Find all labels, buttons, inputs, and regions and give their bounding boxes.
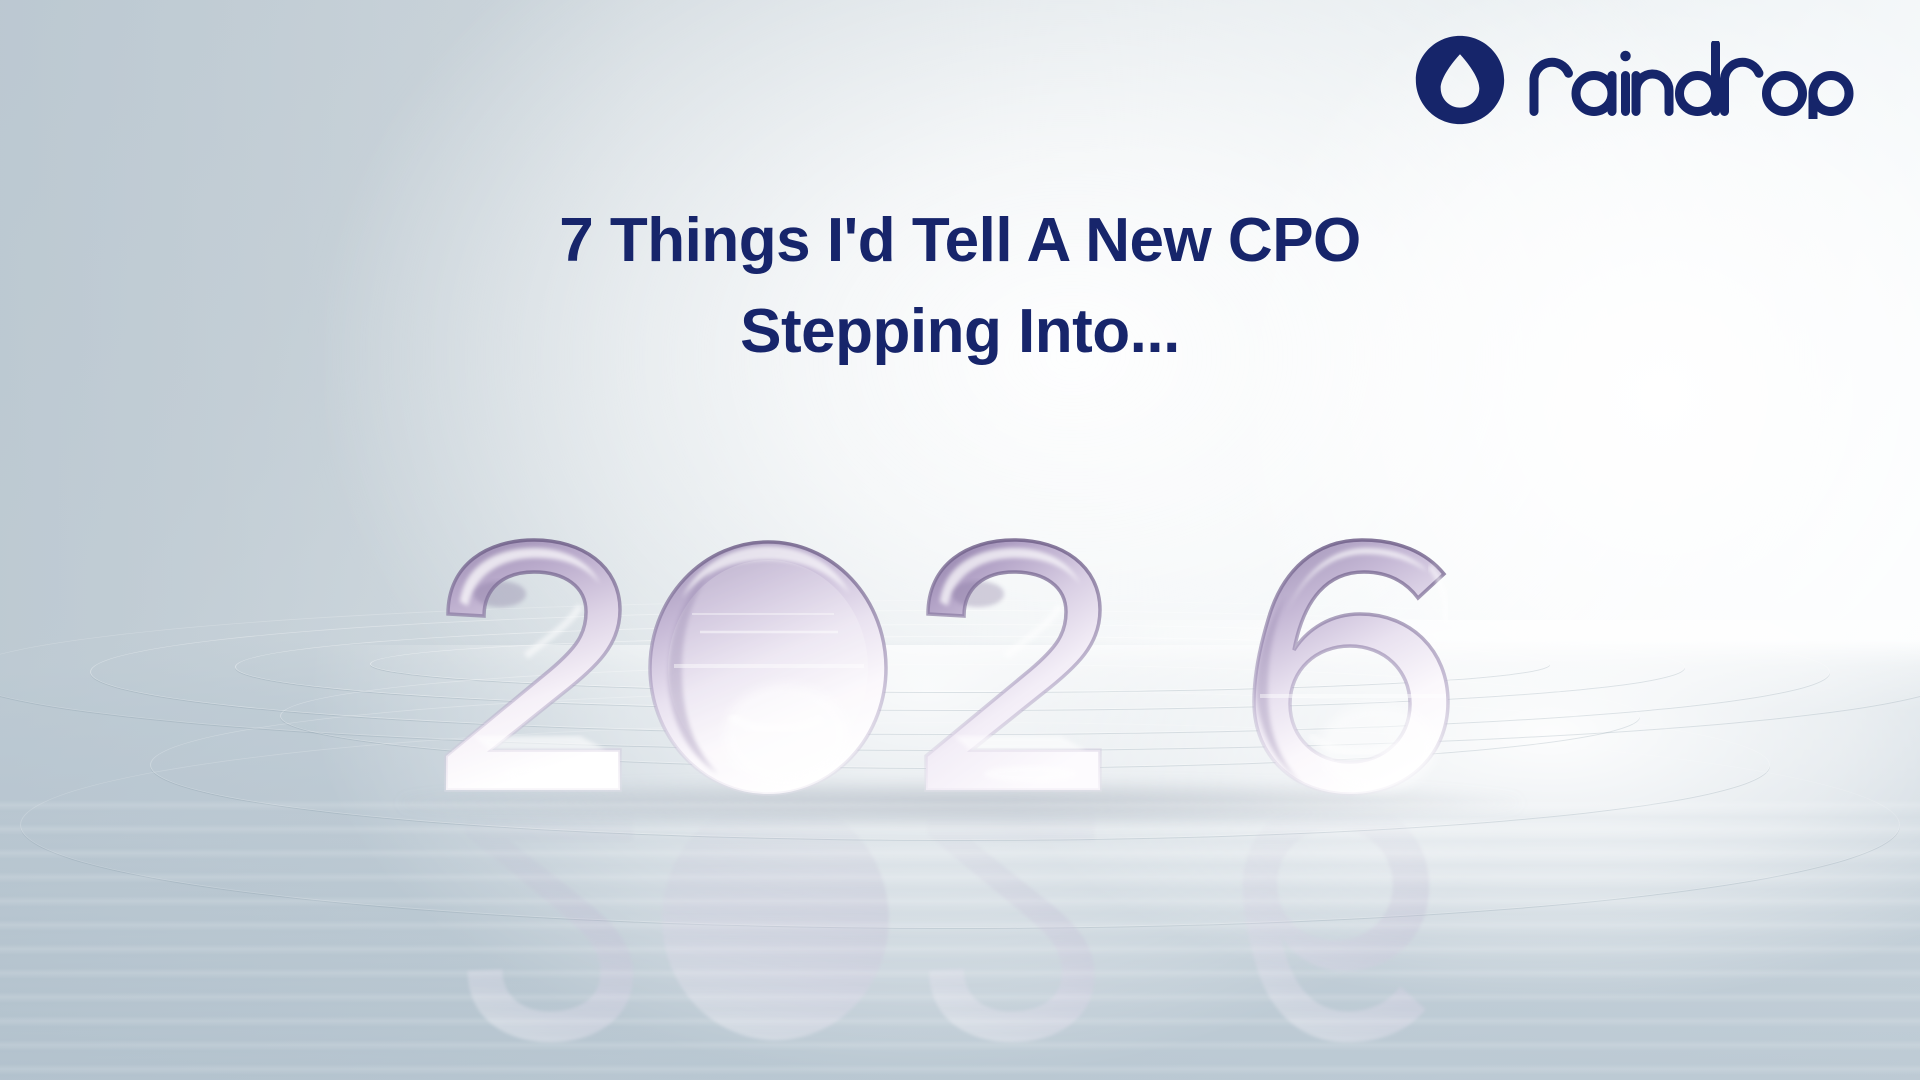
year-2026-reflection-svg <box>430 796 1490 1046</box>
hero-banner: 7 Things I'd Tell A New CPO Stepping Int… <box>0 0 1920 1080</box>
glass-digit-0 <box>650 542 886 794</box>
title-line-2: Stepping Into... <box>120 287 1800 378</box>
page-title: 7 Things I'd Tell A New CPO Stepping Int… <box>0 196 1920 377</box>
year-2026-svg <box>430 536 1490 796</box>
year-2026-glass <box>430 536 1490 796</box>
glass-digit-2b <box>926 540 1100 790</box>
raindrop-logo-icon <box>1414 34 1506 126</box>
glass-digit-2a <box>446 540 620 790</box>
raindrop-wordmark <box>1528 41 1881 119</box>
glass-digit-6 <box>1254 540 1448 794</box>
title-line-1: 7 Things I'd Tell A New CPO <box>120 196 1800 287</box>
year-2026-reflection <box>430 796 1490 1046</box>
raindrop-logo[interactable] <box>1414 34 1881 126</box>
